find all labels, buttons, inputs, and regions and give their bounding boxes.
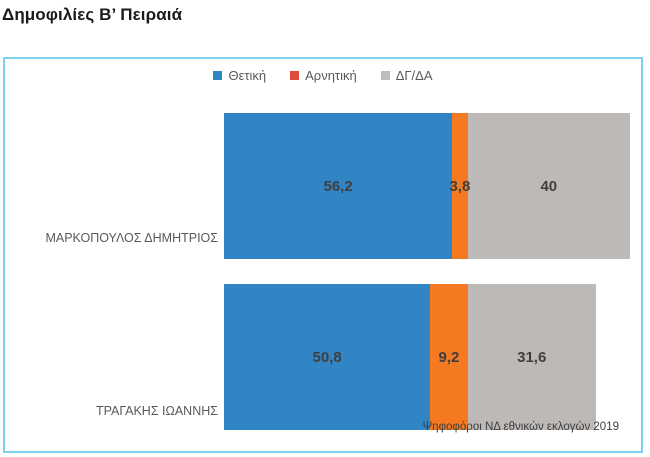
bar-value-negative-0: 3,8 [449, 178, 470, 195]
bar-segment-positive-0[interactable]: 56,2 [224, 113, 452, 259]
category-label-0: ΜΑΡΚΟΠΟΥΛΟΣ ΔΗΜΗΤΡΙΟΣ [5, 231, 218, 245]
bar-value-nosay-0: 40 [540, 178, 557, 195]
bar-segment-nosay-1[interactable]: 31,6 [468, 284, 596, 430]
chart-footnote: Ψηφοφόροι ΝΔ εθνικών εκλογών 2019 [423, 421, 619, 433]
table-row: 56,2 3,8 40 [224, 113, 630, 259]
category-label-1: ΤΡΑΓΑΚΗΣ ΙΩΑΝΝΗΣ [5, 404, 218, 418]
plot-area: ΜΑΡΚΟΠΟΥΛΟΣ ΔΗΜΗΤΡΙΟΣ ΤΡΑΓΑΚΗΣ ΙΩΑΝΝΗΣ 5… [5, 59, 641, 451]
bar-segment-negative-1[interactable]: 9,2 [430, 284, 467, 430]
table-row: 50,8 9,2 31,6 [224, 284, 596, 430]
bar-value-nosay-1: 31,6 [517, 349, 546, 366]
bar-value-positive-0: 56,2 [323, 178, 352, 195]
bar-segment-nosay-0[interactable]: 40 [468, 113, 630, 259]
chart-frame: Θετική Αρνητική ΔΓ/ΔΑ ΜΑΡΚΟΠΟΥΛΟΣ ΔΗΜΗΤΡ… [3, 57, 643, 453]
bar-segment-positive-1[interactable]: 50,8 [224, 284, 430, 430]
bar-segment-negative-0[interactable]: 3,8 [452, 113, 467, 259]
chart-title: Δημοφιλίες Β’ Πειραιά [2, 5, 182, 25]
bar-value-negative-1: 9,2 [438, 349, 459, 366]
bar-value-positive-1: 50,8 [313, 349, 342, 366]
